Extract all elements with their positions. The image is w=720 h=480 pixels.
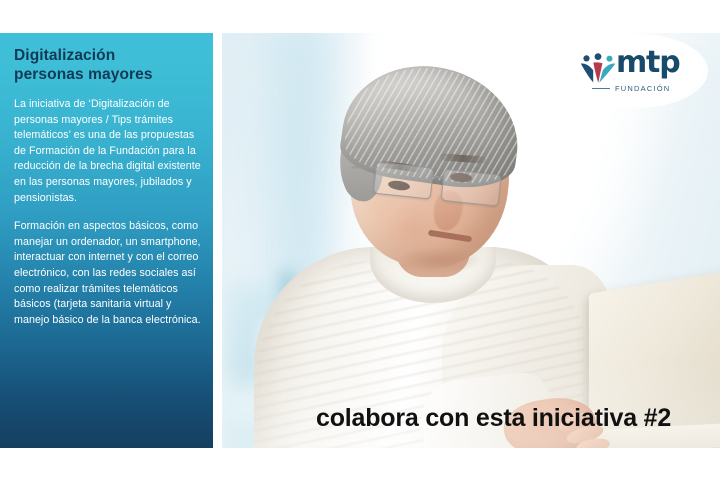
panel-paragraph-1: La iniciativa de ‘Digitalización de pers…: [14, 97, 201, 206]
panel-title: Digitalización personas mayores: [14, 46, 201, 84]
panel-title-line-2: personas mayores: [14, 66, 153, 83]
eyeglass-lens-left: [373, 162, 434, 200]
slide-canvas: mtp FUNDACIÓN colabora con esta iniciati…: [0, 0, 720, 480]
eyeglass-lens-right: [441, 169, 502, 207]
cheek-highlight: [384, 203, 440, 253]
mtp-fundacion-logo: mtp FUNDACIÓN: [566, 34, 708, 108]
panel-title-line-1: Digitalización: [14, 47, 115, 64]
logo-subtitle: FUNDACIÓN: [615, 84, 670, 93]
logo-subtitle-row: FUNDACIÓN: [592, 84, 696, 93]
chin-shadow: [396, 247, 482, 273]
mtp-people-icon: [580, 53, 616, 83]
headline-call-to-action: colabora con esta iniciativa #2: [316, 404, 671, 433]
eyeglass-temple: [352, 166, 378, 168]
logo-divider-rule: [592, 88, 610, 89]
mtp-wordmark: mtp: [616, 48, 679, 78]
panel-paragraph-2: Formación en aspectos básicos, como mane…: [14, 219, 201, 328]
info-panel: Digitalización personas mayores La inici…: [0, 33, 213, 448]
